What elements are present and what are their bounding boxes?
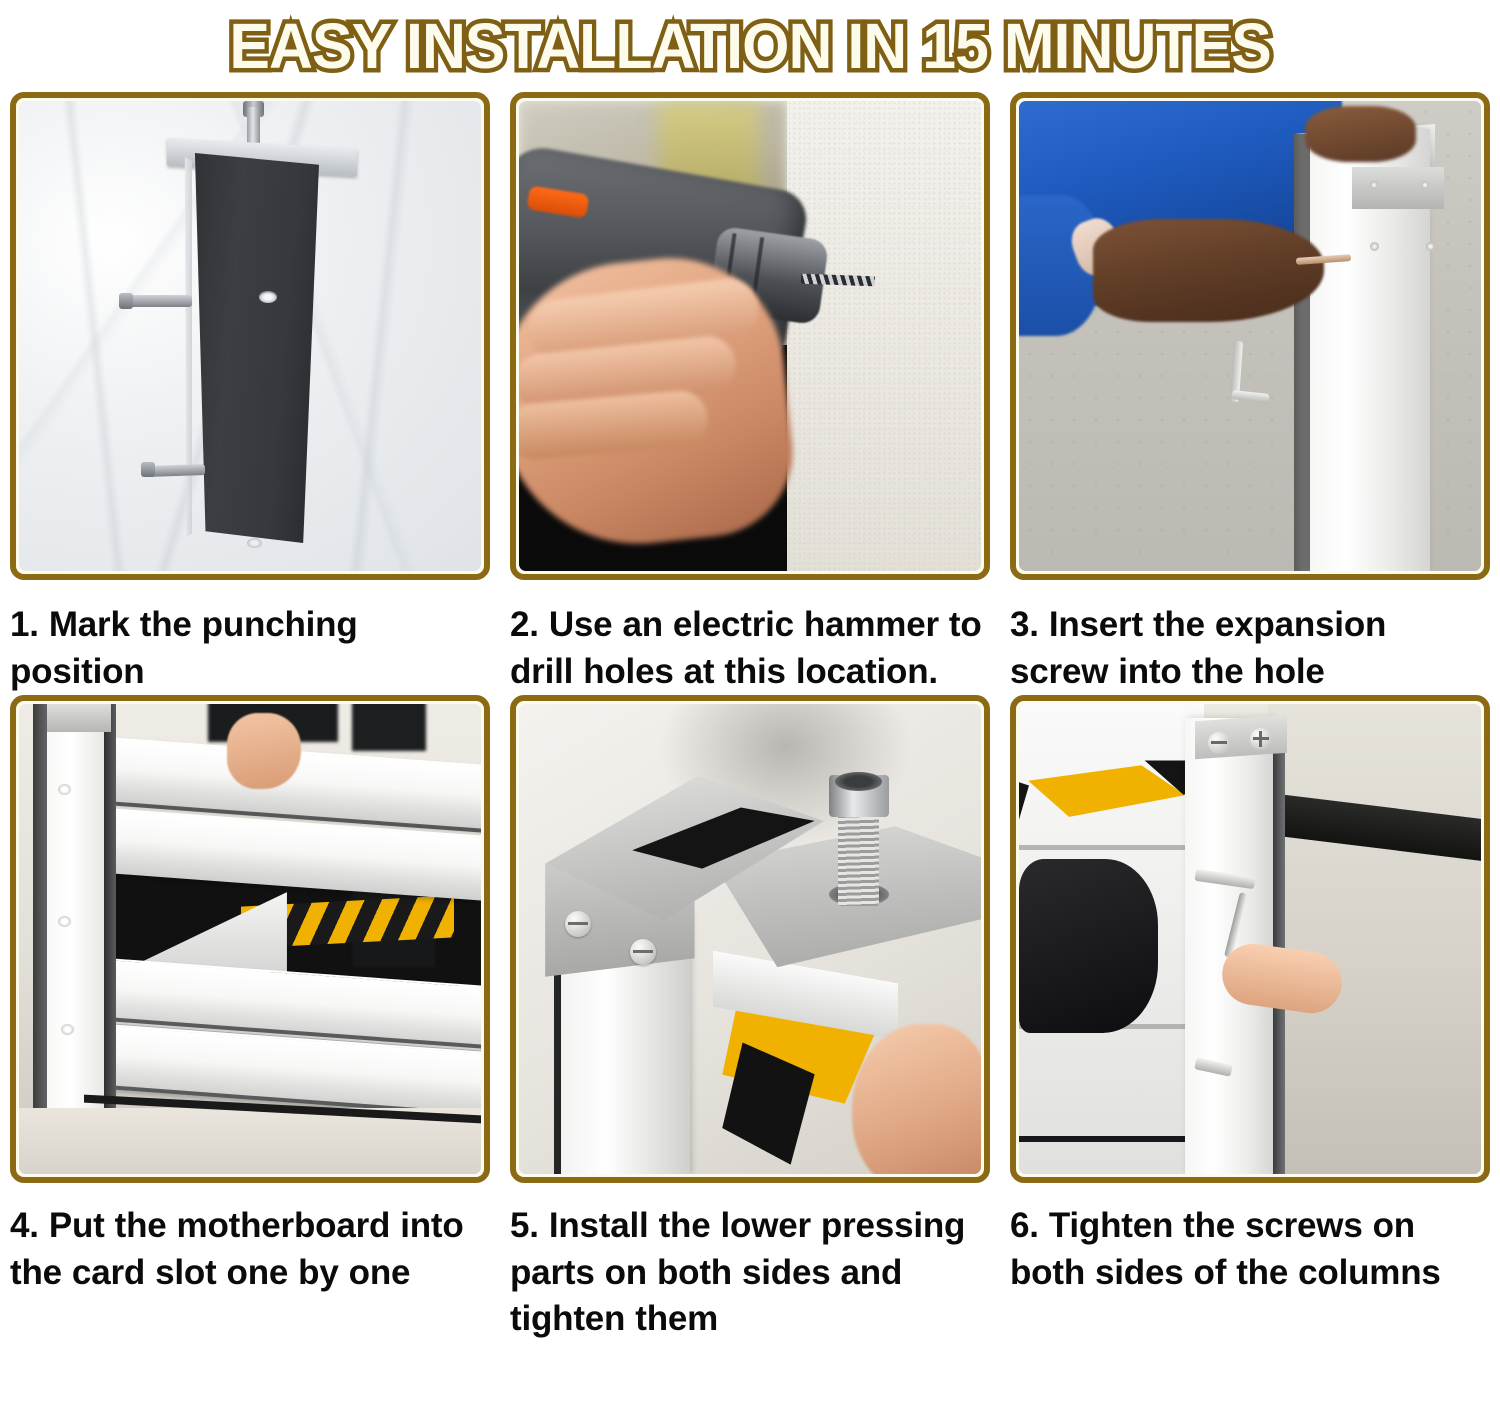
step-photo-frame-4	[10, 695, 490, 1183]
step-caption-6: 6. Tighten the screws on both sides of t…	[1010, 1203, 1488, 1296]
worker-upper-hand	[1305, 106, 1416, 162]
white-wall	[787, 101, 981, 571]
step-cell-2: 2. Use an electric hammer to drill holes…	[500, 92, 1000, 695]
step-photo-frame-5	[510, 695, 990, 1183]
person-silhouette-2	[352, 704, 426, 751]
step-caption-2: 2. Use an electric hammer to drill holes…	[510, 602, 988, 695]
steps-grid: 1. Mark the punching position	[0, 92, 1500, 1343]
post-bolt-3	[61, 1024, 74, 1035]
step-photo-4	[19, 704, 481, 1174]
stud-bolt-lower-tip	[141, 462, 155, 477]
thumb-screw-socket	[835, 772, 881, 791]
step-cell-5: 5. Install the lower pressing parts on b…	[500, 695, 1000, 1343]
panel-base-seal	[1019, 1136, 1204, 1142]
panel-seam-1	[1019, 845, 1204, 850]
page-title: EASY INSTALLATION IN 15 MINUTES	[229, 14, 1270, 78]
step-photo-frame-2	[510, 92, 990, 580]
step-caption-3: 3. Insert the expansion screw into the h…	[1010, 602, 1488, 695]
post-right-edge	[104, 704, 116, 1127]
step-photo-5	[519, 704, 981, 1174]
title-banner: EASY INSTALLATION IN 15 MINUTES	[0, 0, 1500, 92]
post-screw-4	[1426, 242, 1435, 251]
step-cell-1: 1. Mark the punching position	[0, 92, 500, 695]
step-photo-2	[519, 101, 981, 571]
step-cell-3: 3. Insert the expansion screw into the h…	[1000, 92, 1500, 695]
installer-hand	[227, 713, 301, 788]
step-photo-frame-1	[10, 92, 490, 580]
vertical-post-card-slot	[47, 704, 107, 1127]
post-screw-1	[1370, 181, 1378, 189]
step-cell-4: 4. Put the motherboard into the card slo…	[0, 695, 500, 1343]
infographic-page: EASY INSTALLATION IN 15 MINUTES	[0, 0, 1500, 1403]
step-photo-frame-6	[1010, 695, 1490, 1183]
post-mounting-plate	[1352, 167, 1444, 209]
post-top-bracket	[47, 704, 112, 732]
bracket-screw-1	[565, 911, 591, 937]
step-caption-1: 1. Mark the punching position	[10, 602, 488, 695]
drill-hole-upper	[259, 291, 277, 303]
step-caption-4: 4. Put the motherboard into the card slo…	[10, 1203, 488, 1296]
step-photo-1	[19, 101, 481, 571]
mounting-column	[187, 153, 319, 543]
drill-hole-lower	[247, 538, 262, 548]
post-bolt-2	[58, 916, 71, 927]
stud-bolt-lower	[147, 464, 205, 477]
step-photo-frame-3	[1010, 92, 1490, 580]
stud-bolt-upper	[124, 295, 192, 307]
step-cell-6: 6. Tighten the screws on both sides of t…	[1000, 695, 1500, 1343]
stud-bolt-upper-tip	[119, 293, 133, 309]
post-screw-2	[1421, 181, 1429, 189]
bracket-screw-2	[630, 939, 656, 965]
worker-arm	[1093, 219, 1324, 322]
column-screw-2	[1250, 728, 1272, 750]
step-photo-6	[1019, 704, 1481, 1174]
step-caption-5: 5. Install the lower pressing parts on b…	[510, 1203, 988, 1343]
thumb-screw-thread	[838, 812, 880, 906]
step-photo-3	[1019, 101, 1481, 571]
